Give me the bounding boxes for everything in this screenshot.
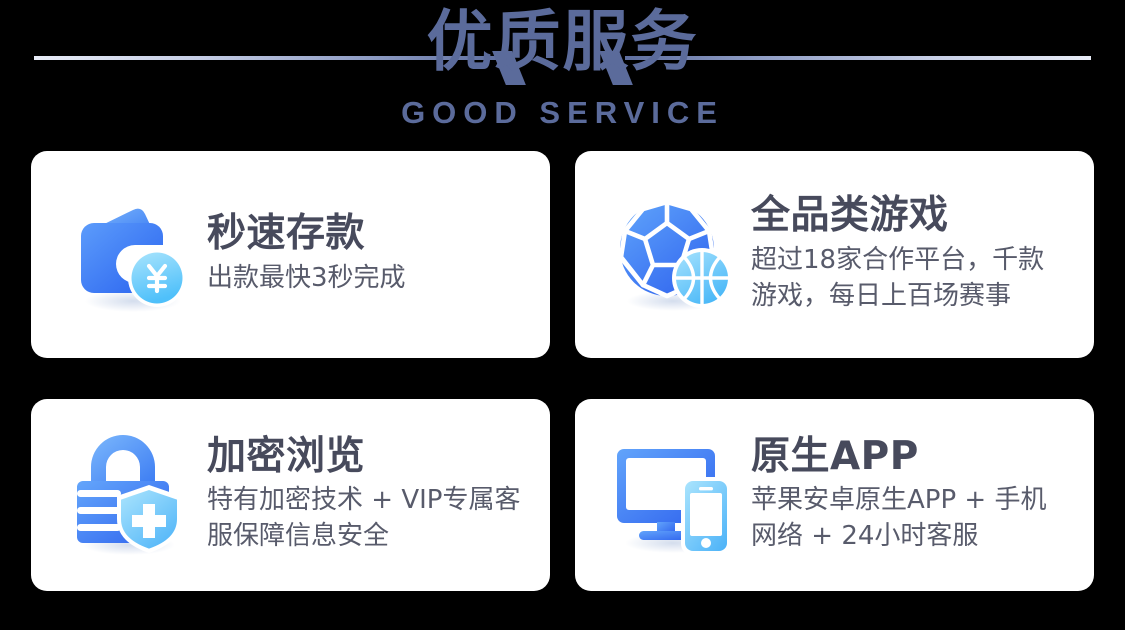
feature-description: 特有加密技术 + VIP专属客服保障信息安全: [207, 483, 536, 555]
feature-description: 出款最快3秒完成: [207, 261, 536, 297]
lock-shield-icon: [61, 425, 201, 565]
feature-description: 苹果安卓原生APP + 手机网络 + 24小时客服: [751, 483, 1080, 555]
page-subtitle: GOOD SERVICE: [0, 96, 1125, 130]
feature-title: 秒速存款: [207, 212, 536, 256]
feature-card-text: 原生APP 苹果安卓原生APP + 手机网络 + 24小时客服: [745, 435, 1080, 555]
feature-card-games[interactable]: 全品类游戏 超过18家合作平台，千款游戏，每日上百场赛事: [575, 151, 1094, 358]
feature-title: 全品类游戏: [751, 194, 1080, 238]
section-header: 优质服务 GOOD SERVICE: [0, 0, 1125, 140]
feature-card-grid: 秒速存款 出款最快3秒完成: [31, 151, 1094, 591]
page-title: 优质服务: [0, 6, 1125, 79]
feature-title: 加密浏览: [207, 435, 536, 479]
feature-card-text: 加密浏览 特有加密技术 + VIP专属客服保障信息安全: [201, 435, 536, 555]
feature-card-native-app[interactable]: 原生APP 苹果安卓原生APP + 手机网络 + 24小时客服: [575, 399, 1094, 591]
feature-card-text: 全品类游戏 超过18家合作平台，千款游戏，每日上百场赛事: [745, 194, 1080, 314]
feature-description: 超过18家合作平台，千款游戏，每日上百场赛事: [751, 243, 1080, 315]
wallet-yen-icon: [61, 185, 201, 325]
monitor-phone-icon: [605, 425, 745, 565]
feature-title: 原生APP: [751, 435, 1080, 479]
feature-card-encryption[interactable]: 加密浏览 特有加密技术 + VIP专属客服保障信息安全: [31, 399, 550, 591]
good-service-banner: 优质服务 GOOD SERVICE: [0, 0, 1125, 630]
feature-card-text: 秒速存款 出款最快3秒完成: [201, 212, 536, 297]
feature-card-deposit[interactable]: 秒速存款 出款最快3秒完成: [31, 151, 550, 358]
soccer-basketball-icon: [605, 185, 745, 325]
